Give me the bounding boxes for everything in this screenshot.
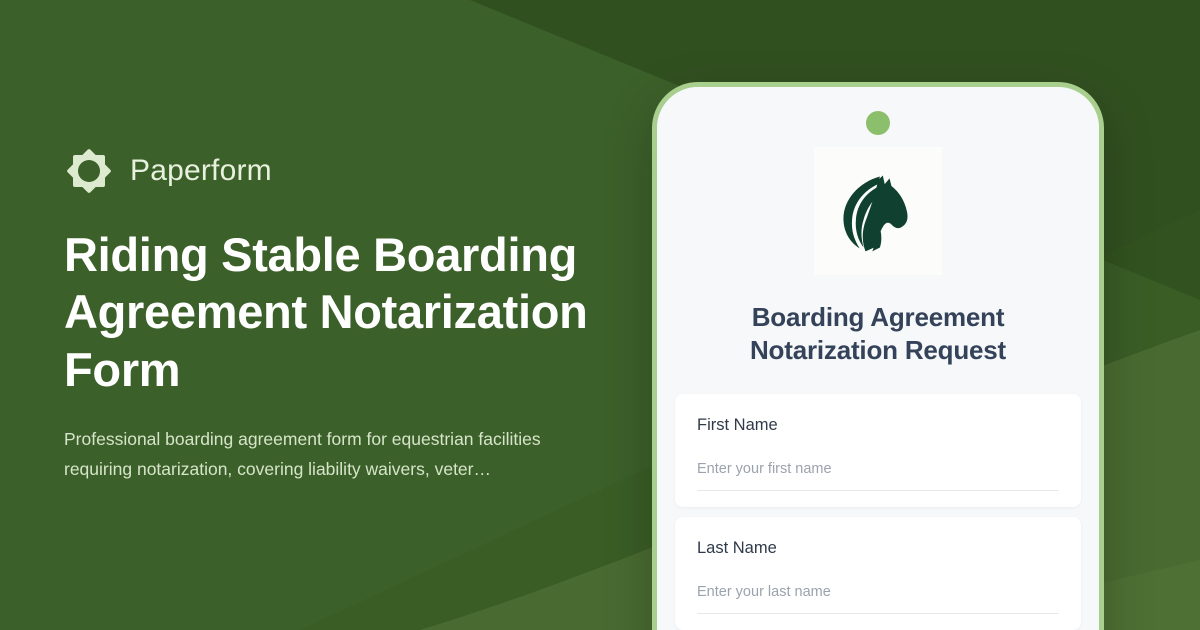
camera-dot-icon (866, 111, 890, 135)
horse-head-icon (830, 163, 926, 259)
form-fields-list: First Name Enter your first name Last Na… (657, 394, 1099, 630)
field-label: First Name (697, 416, 1059, 435)
first-name-input[interactable]: Enter your first name (697, 461, 1059, 491)
form-field-last-name[interactable]: Last Name Enter your last name (675, 517, 1081, 630)
form-title: Boarding Agreement Notarization Request (657, 301, 1099, 368)
page-description: Professional boarding agreement form for… (64, 424, 579, 484)
form-field-first-name[interactable]: First Name Enter your first name (675, 394, 1081, 507)
field-label: Last Name (697, 539, 1059, 558)
form-logo-tile (814, 147, 942, 275)
last-name-input[interactable]: Enter your last name (697, 584, 1059, 614)
hero-content: Paperform Riding Stable Boarding Agreeme… (64, 0, 624, 630)
brand-lockup: Paperform (64, 146, 624, 196)
paperform-logo-icon (64, 146, 114, 196)
phone-screen: Boarding Agreement Notarization Request … (657, 87, 1099, 630)
phone-mockup: Boarding Agreement Notarization Request … (652, 82, 1104, 630)
brand-name: Paperform (130, 156, 272, 186)
page-title: Riding Stable Boarding Agreement Notariz… (64, 226, 624, 398)
